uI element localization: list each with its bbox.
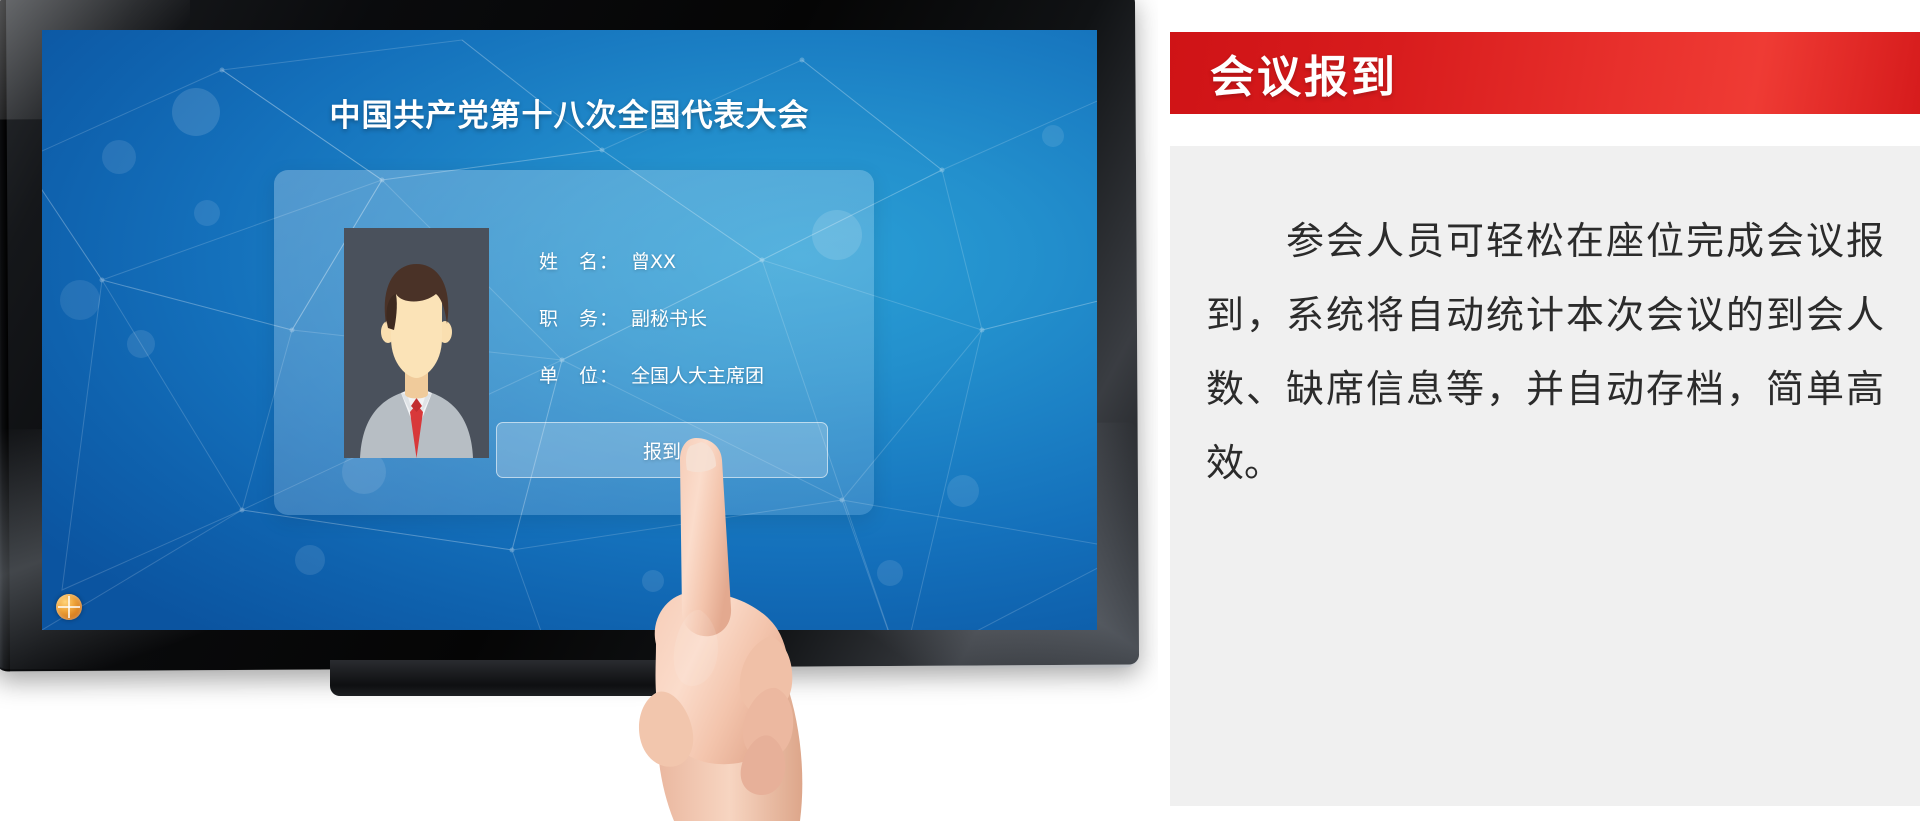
info-row-organization: 单 位： 全国人大主席团 xyxy=(539,346,859,403)
info-value-name: 曾XX xyxy=(631,247,859,274)
avatar xyxy=(344,228,489,458)
attendee-info-list: 姓 名： 曾XX 职 务： 副秘书长 单 位： 全国人大主席团 xyxy=(539,232,859,403)
bokeh-circle xyxy=(102,140,136,174)
info-label-organization: 单 位： xyxy=(539,361,631,388)
info-panel: 会议报到 参会人员可轻松在座位完成会议报到，系统将自动统计本次会议的到会人数、缺… xyxy=(1158,0,1920,821)
start-orb-divider-horizontal xyxy=(58,606,80,608)
bokeh-circle xyxy=(60,280,100,320)
info-row-name: 姓 名： 曾XX xyxy=(539,232,859,289)
banner-title: 会议报到 xyxy=(1210,41,1398,105)
checkin-screen: 中国共产党第十八次全国代表大会 xyxy=(42,30,1097,630)
info-label-position: 职 务： xyxy=(539,304,631,331)
tv-display: 中国共产党第十八次全国代表大会 xyxy=(0,0,1150,700)
info-value-position: 副秘书长 xyxy=(631,304,859,331)
description-text: 参会人员可轻松在座位完成会议报到，系统将自动统计本次会议的到会人数、缺席信息等，… xyxy=(1178,204,1912,500)
page-title: 中国共产党第十八次全国代表大会 xyxy=(42,90,1097,135)
windows-start-orb-icon[interactable] xyxy=(56,594,82,620)
avatar-illustration xyxy=(344,228,489,458)
info-label-name: 姓 名： xyxy=(539,247,631,274)
pointing-hand-illustration xyxy=(600,430,840,821)
bokeh-circle xyxy=(947,475,979,507)
description-box: 参会人员可轻松在座位完成会议报到，系统将自动统计本次会议的到会人数、缺席信息等，… xyxy=(1170,146,1920,806)
bokeh-circle xyxy=(877,560,903,586)
info-value-organization: 全国人大主席团 xyxy=(631,361,859,388)
info-row-position: 职 务： 副秘书长 xyxy=(539,289,859,346)
bokeh-circle xyxy=(127,330,155,358)
screenshot-root: 中国共产党第十八次全国代表大会 xyxy=(0,0,1920,821)
section-banner: 会议报到 xyxy=(1170,32,1920,114)
bokeh-circle xyxy=(194,200,220,226)
hand-svg xyxy=(600,430,840,821)
bokeh-circle xyxy=(295,545,325,575)
